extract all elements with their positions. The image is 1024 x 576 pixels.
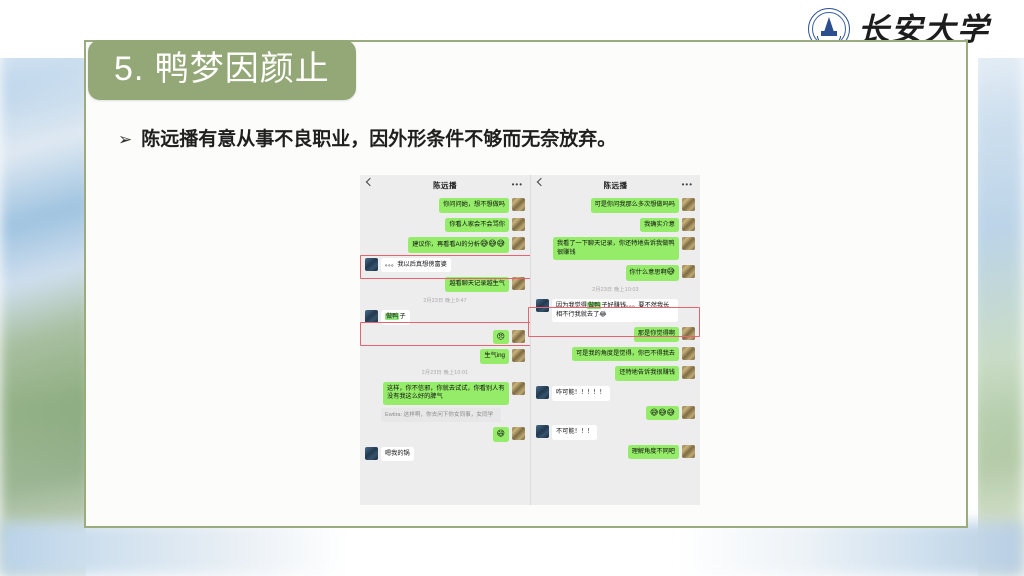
avatar[interactable] [682, 366, 695, 379]
message-bubble[interactable]: 我确实介意 [640, 218, 679, 233]
avatar[interactable] [512, 277, 525, 290]
chat-message-row: 因为我觉得做鸭子好赚钱。。。要不然我长相不行我就去了😂 [536, 299, 695, 322]
avatar[interactable] [682, 327, 695, 340]
bullet-arrow-icon: ➢ [118, 128, 132, 152]
message-bubble[interactable]: 不可能！！！ [552, 425, 597, 440]
message-bubble[interactable]: 那是你觉得啊 [634, 327, 679, 342]
avatar[interactable] [536, 425, 549, 438]
back-icon[interactable] [537, 178, 545, 186]
chat-title-left: 陈远播 [433, 180, 457, 191]
chat-message-row: 不可能！！！ [536, 425, 695, 440]
avatar[interactable] [682, 445, 695, 458]
chat-message-row: 我确实介意 [536, 218, 695, 233]
message-timestamp: 2月23日 晚上10:01 [365, 369, 525, 376]
chat-screenshot-right: 陈远播 ••• 可是你问我那么多次想做吗吗我确实介意我看了一下聊天记录，你还特地… [530, 175, 700, 505]
chat-message-row: 建议你，再看看AI的分析😅😅😅 [365, 237, 525, 253]
message-timestamp: 2月23日 晚上9:47 [365, 297, 525, 304]
avatar[interactable] [512, 198, 525, 211]
avatar[interactable] [512, 330, 525, 343]
message-bubble[interactable]: 越看聊天记录越生气 [445, 277, 509, 292]
chat-message-row: 你问问她，想不想做吗 [365, 198, 525, 213]
chat-title-right: 陈远播 [604, 180, 628, 191]
slide-canvas: 长安大学 5. 鸭梦因颜止 ➢ 陈远播有意从事不良职业，因外形条件不够而无奈放弃… [0, 0, 1024, 576]
message-bubble[interactable]: 😠 [493, 330, 509, 345]
avatar[interactable] [512, 349, 525, 362]
more-options-icon[interactable]: ••• [512, 183, 523, 187]
message-timestamp: 2月23日 晚上10:03 [536, 286, 695, 293]
message-bubble[interactable]: 建议你，再看看AI的分析😅😅😅 [408, 237, 509, 253]
avatar[interactable] [365, 447, 378, 460]
message-bubble[interactable]: 嗯我的锅 [381, 447, 414, 462]
message-bubble[interactable]: 你问问她，想不想做吗 [439, 198, 509, 213]
avatar[interactable] [682, 237, 695, 250]
background-photo-left [0, 0, 92, 576]
chat-message-row: 做鸭子 [365, 310, 525, 325]
avatar[interactable] [512, 427, 525, 440]
chat-header-left: 陈远播 ••• [360, 175, 530, 195]
chat-message-row: 可是我的角度是觉得，你巴不得我去 [536, 347, 695, 362]
chat-message-row: 理解角度不同吧 [536, 445, 695, 460]
message-bubble[interactable]: 生气ing [480, 349, 509, 364]
avatar[interactable] [682, 347, 695, 360]
page-title: 5. 鸭梦因颜止 [114, 52, 330, 86]
chat-message-row: 你看人家会不会骂你 [365, 218, 525, 233]
message-bubble[interactable]: 理解角度不同吧 [628, 445, 679, 460]
chat-screenshot-group: 陈远播 ••• 你问问她，想不想做吗你看人家会不会骂你建议你，再看看AI的分析😅… [360, 175, 700, 505]
chat-message-row: 我看了一下聊天记录，你还特地告诉我做鸭很赚钱 [536, 237, 695, 260]
chat-message-row: 😅😅😅 [536, 406, 695, 421]
message-bubble[interactable]: 咋可能！！！！！ [552, 386, 610, 401]
chat-message-row: 越看聊天记录越生气 [365, 277, 525, 292]
avatar[interactable] [512, 218, 525, 231]
bullet-text: 陈远播有意从事不良职业，因外形条件不够而无奈放弃。 [141, 128, 616, 152]
chat-message-row: 可是你问我那么多次想做吗吗 [536, 198, 695, 213]
chat-message-row: 还特地告诉我很赚钱 [536, 366, 695, 381]
message-bubble[interactable]: 你看人家会不会骂你 [445, 218, 509, 233]
message-bubble[interactable]: 可是我的角度是觉得，你巴不得我去 [572, 347, 679, 362]
back-icon[interactable] [366, 178, 374, 186]
emoji-icon: 😅 [667, 267, 675, 276]
chat-message-row: 嗯我的锅 [365, 447, 525, 462]
avatar[interactable] [682, 198, 695, 211]
message-bubble[interactable]: 这样，你不信邪，你就去试试，你看别人有没有我这么好的脾气 [383, 382, 509, 405]
chat-header-right: 陈远播 ••• [531, 175, 700, 195]
message-bubble[interactable]: 。。。我以后真想傍富婆 [381, 258, 451, 273]
chat-message-row: 生气ing [365, 349, 525, 364]
slide-title-pill: 5. 鸭梦因颜止 [88, 40, 356, 100]
avatar[interactable] [365, 310, 378, 323]
message-bubble[interactable]: 因为我觉得做鸭子好赚钱。。。要不然我长相不行我就去了😂 [552, 299, 678, 322]
message-bubble[interactable]: 我看了一下聊天记录，你还特地告诉我做鸭很赚钱 [553, 237, 679, 260]
message-bubble[interactable]: 可是你问我那么多次想做吗吗 [591, 198, 679, 213]
chat-message-row: 咋可能！！！！！ [536, 386, 695, 401]
message-bubble[interactable]: 😄 [493, 427, 509, 442]
avatar[interactable] [536, 386, 549, 399]
message-bubble[interactable]: 😅😅😅 [646, 406, 679, 421]
quoted-message: Ewtira: 这样啊，你去问下你女同事，女同学 [381, 408, 501, 422]
emoji-icon: 😅😅😅 [480, 239, 505, 248]
background-photo-bottom [0, 522, 1024, 576]
more-options-icon[interactable]: ••• [682, 183, 693, 187]
avatar[interactable] [512, 382, 525, 395]
chat-message-row: 这样，你不信邪，你就去试试，你看别人有没有我这么好的脾气 [365, 382, 525, 405]
chat-message-row: 😠 [365, 330, 525, 345]
chat-message-list-right: 可是你问我那么多次想做吗吗我确实介意我看了一下聊天记录，你还特地告诉我做鸭很赚钱… [531, 195, 700, 459]
chat-message-list-left: 你问问她，想不想做吗你看人家会不会骂你建议你，再看看AI的分析😅😅😅。。。我以后… [360, 195, 530, 461]
bullet-line: ➢ 陈远播有意从事不良职业，因外形条件不够而无奈放弃。 [118, 128, 616, 152]
avatar[interactable] [682, 406, 695, 419]
message-bubble[interactable]: 你什么意思啊😅 [626, 265, 679, 281]
avatar[interactable] [682, 218, 695, 231]
background-photo-right [972, 0, 1024, 576]
avatar[interactable] [536, 299, 549, 312]
avatar[interactable] [365, 258, 378, 271]
chat-message-row: 你什么意思啊😅 [536, 265, 695, 281]
chat-message-row: 那是你觉得啊 [536, 327, 695, 342]
chat-message-row: 。。。我以后真想傍富婆 [365, 258, 525, 273]
message-bubble[interactable]: 做鸭子 [381, 310, 410, 325]
message-bubble[interactable]: 还特地告诉我很赚钱 [615, 366, 679, 381]
avatar[interactable] [512, 237, 525, 250]
chat-screenshot-left: 陈远播 ••• 你问问她，想不想做吗你看人家会不会骂你建议你，再看看AI的分析😅… [360, 175, 530, 505]
chat-message-row: 😄 [365, 427, 525, 442]
avatar[interactable] [682, 265, 695, 278]
